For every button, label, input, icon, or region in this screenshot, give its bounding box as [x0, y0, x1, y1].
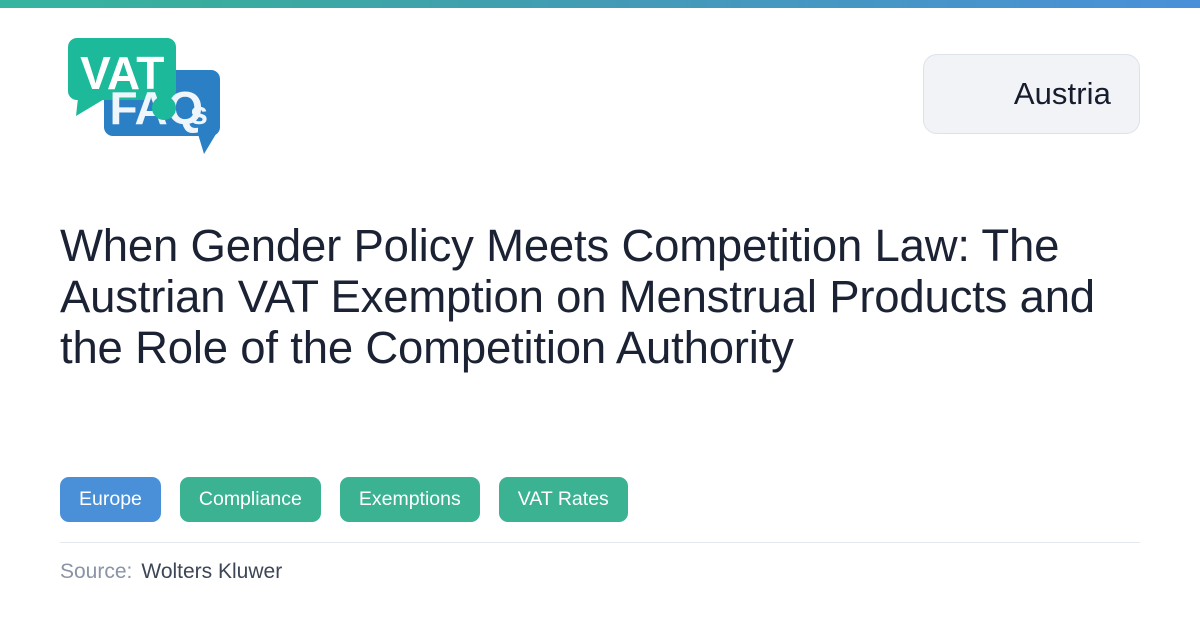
source-label: Source:	[60, 560, 132, 584]
source-value: Wolters Kluwer	[141, 560, 282, 584]
article-share-card: VAT FAQ s Austria When Gender Policy Mee…	[0, 0, 1200, 630]
article-title: When Gender Policy Meets Competition Law…	[60, 220, 1100, 373]
footer-divider	[60, 542, 1140, 543]
tag-europe[interactable]: Europe	[60, 477, 161, 522]
tag-label: Compliance	[199, 488, 302, 511]
logo-text-s: s	[190, 95, 208, 131]
tag-label: Exemptions	[359, 488, 461, 511]
card-body: When Gender Policy Meets Competition Law…	[60, 220, 1140, 373]
austria-flag-icon	[952, 78, 996, 110]
card-header: VAT FAQ s Austria	[0, 8, 1200, 160]
country-badge[interactable]: Austria	[923, 54, 1140, 134]
tag-list: Europe Compliance Exemptions VAT Rates	[60, 477, 628, 522]
country-name-label: Austria	[1014, 76, 1111, 112]
logo-q-dot	[152, 96, 176, 120]
tag-label: Europe	[79, 488, 142, 511]
source-row: Source: Wolters Kluwer	[60, 560, 282, 584]
tag-label: VAT Rates	[518, 488, 609, 511]
vatfaqs-logo[interactable]: VAT FAQ s	[60, 36, 230, 156]
tag-exemptions[interactable]: Exemptions	[340, 477, 480, 522]
tag-compliance[interactable]: Compliance	[180, 477, 321, 522]
tag-vat-rates[interactable]: VAT Rates	[499, 477, 628, 522]
top-accent-bar	[0, 0, 1200, 8]
